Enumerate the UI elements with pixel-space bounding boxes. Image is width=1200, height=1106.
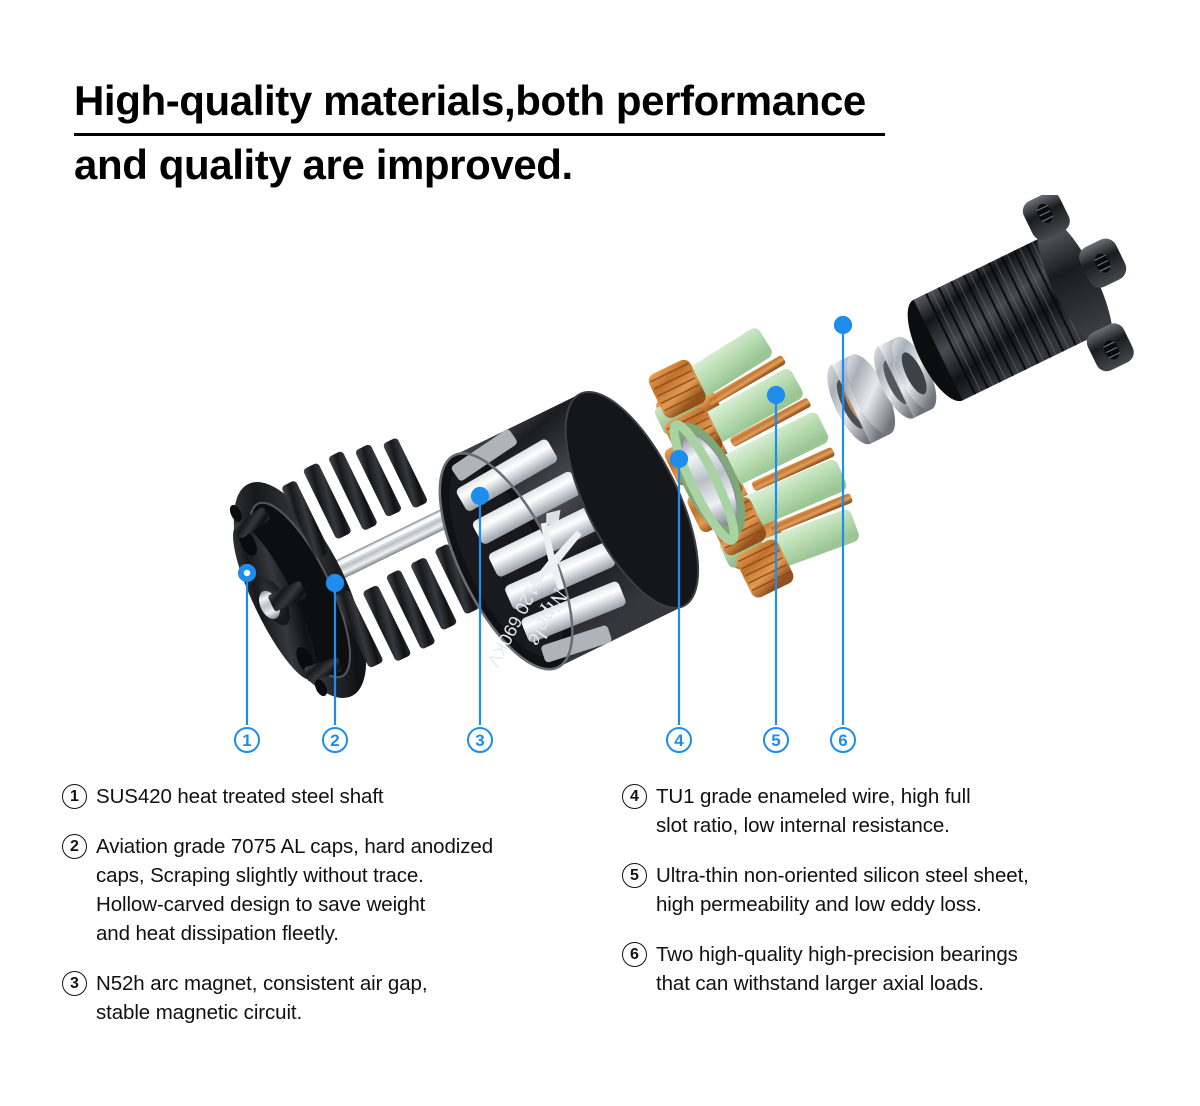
legend-number-1: 1: [62, 784, 87, 809]
callout-marker-6[interactable]: 6: [830, 727, 856, 753]
callout-marker-2[interactable]: 2: [322, 727, 348, 753]
page-title: High-quality materials,both performance …: [74, 72, 1014, 194]
legend-item-2: 2 Aviation grade 7075 AL caps, hard anod…: [62, 832, 622, 948]
leader-dot-4: [671, 451, 687, 467]
legend-number-3: 3: [62, 971, 87, 996]
callout-marker-4[interactable]: 4: [666, 727, 692, 753]
legend-number-5: 5: [622, 863, 647, 888]
legend-text-2: Aviation grade 7075 AL caps, hard anodiz…: [96, 832, 493, 948]
leader-dot-6: [835, 317, 851, 333]
legend-text-3: N52h arc magnet, consistent air gap, sta…: [96, 969, 427, 1027]
title-line-1: High-quality materials,both performance: [74, 72, 885, 136]
legend-item-3: 3 N52h arc magnet, consistent air gap, s…: [62, 969, 622, 1027]
legend-column-left: 1 SUS420 heat treated steel shaft 2 Avia…: [62, 782, 622, 1048]
motor-exploded-illustration: Nipple 3120 690KV: [0, 195, 1200, 765]
legend-text-1: SUS420 heat treated steel shaft: [96, 782, 384, 811]
callout-marker-3[interactable]: 3: [467, 727, 493, 753]
callout-marker-1[interactable]: 1: [234, 727, 260, 753]
leader-dot-5: [768, 387, 784, 403]
exploded-view-infographic: High-quality materials,both performance …: [0, 0, 1200, 1106]
leader-dot-3: [472, 488, 488, 504]
legend-number-6: 6: [622, 942, 647, 967]
leader-dot-2: [327, 575, 343, 591]
legend-item-4: 4 TU1 grade enameled wire, high full slo…: [622, 782, 1182, 840]
legend-item-1: 1 SUS420 heat treated steel shaft: [62, 782, 622, 811]
legend-item-6: 6 Two high-quality high-precision bearin…: [622, 940, 1182, 998]
callout-marker-5[interactable]: 5: [763, 727, 789, 753]
legend-item-5: 5 Ultra-thin non-oriented silicon steel …: [622, 861, 1182, 919]
legend-number-2: 2: [62, 834, 87, 859]
legend-column-right: 4 TU1 grade enameled wire, high full slo…: [622, 782, 1182, 1019]
legend-text-4: TU1 grade enameled wire, high full slot …: [656, 782, 971, 840]
title-line-2: and quality are improved.: [74, 136, 1014, 194]
legend: 1 SUS420 heat treated steel shaft 2 Avia…: [0, 782, 1200, 1102]
legend-text-6: Two high-quality high-precision bearings…: [656, 940, 1018, 998]
legend-number-4: 4: [622, 784, 647, 809]
legend-text-5: Ultra-thin non-oriented silicon steel sh…: [656, 861, 1029, 919]
